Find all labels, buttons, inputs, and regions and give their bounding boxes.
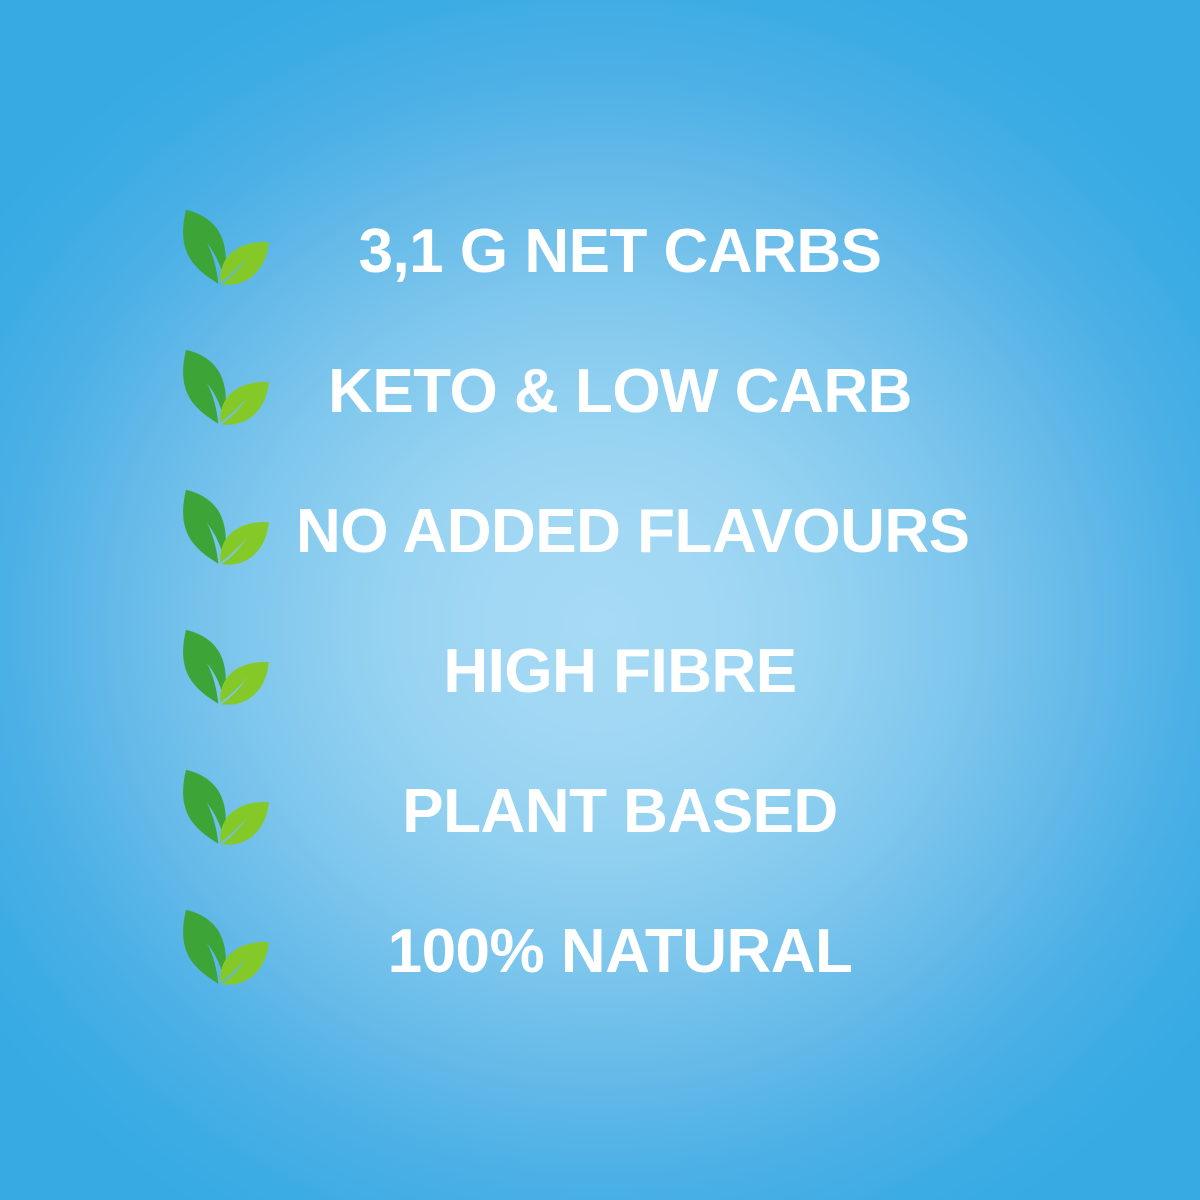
benefit-label: 3,1 G NET CARBS [296,221,944,283]
leaf-pair-icon [172,480,276,584]
benefit-label: NO ADDED FLAVOURS [296,501,944,563]
benefit-row: 3,1 G NET CARBS [0,182,1200,322]
leaf-pair-icon [172,900,276,1004]
benefit-label: HIGH FIBRE [296,641,944,703]
benefit-row: NO ADDED FLAVOURS [0,462,1200,602]
product-benefits-infographic: 3,1 G NET CARBS KETO & LOW CARB NO ADDED… [0,0,1200,1200]
benefit-label: PLANT BASED [296,781,944,843]
leaf-pair-icon [172,340,276,444]
benefits-list: 3,1 G NET CARBS KETO & LOW CARB NO ADDED… [0,0,1200,1200]
leaf-pair-icon [172,760,276,864]
leaf-pair-icon [172,620,276,724]
leaf-pair-icon [172,200,276,304]
benefit-label: KETO & LOW CARB [296,361,944,423]
benefit-row: HIGH FIBRE [0,602,1200,742]
benefit-row: 100% NATURAL [0,882,1200,1022]
benefit-row: KETO & LOW CARB [0,322,1200,462]
benefit-label: 100% NATURAL [296,921,944,983]
benefit-row: PLANT BASED [0,742,1200,882]
